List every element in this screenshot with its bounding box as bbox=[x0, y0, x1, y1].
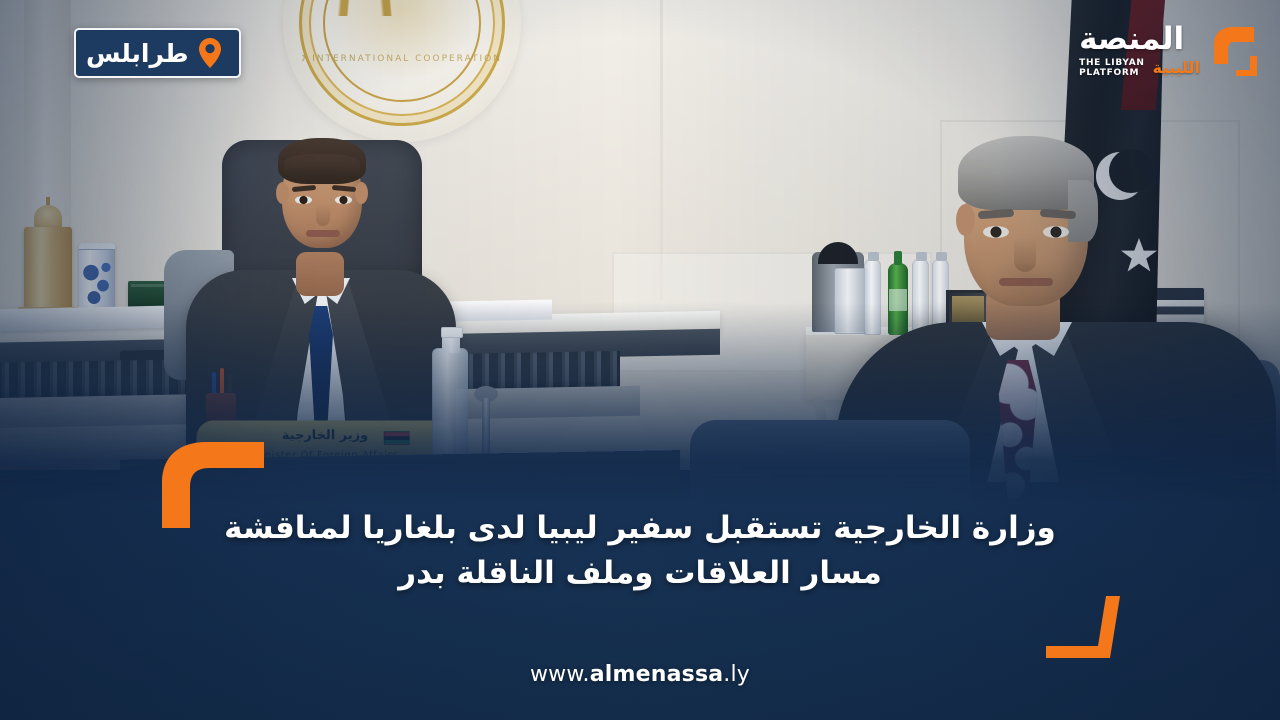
brand-name-arabic-sub: الليبية bbox=[1153, 60, 1200, 76]
location-badge[interactable]: طرابلس bbox=[74, 28, 241, 78]
url-name: almenassa bbox=[590, 662, 724, 687]
headline-line-1: وزارة الخارجية تستقبل سفير ليبيا لدى بلغ… bbox=[170, 506, 1110, 551]
headline: وزارة الخارجية تستقبل سفير ليبيا لدى بلغ… bbox=[170, 506, 1110, 597]
orange-corner-accent-icon bbox=[1046, 596, 1130, 658]
url-prefix: www. bbox=[530, 662, 590, 687]
location-label: طرابلس bbox=[86, 41, 189, 66]
brand-logo[interactable]: المنصة الليبية THE LIBYAN PLATFORM bbox=[1079, 20, 1268, 82]
brand-wordmark: المنصة الليبية THE LIBYAN PLATFORM bbox=[1079, 24, 1200, 79]
brand-name-english: THE LIBYAN PLATFORM bbox=[1079, 58, 1145, 79]
orange-hook-logo-icon bbox=[1206, 20, 1268, 82]
url-tld: .ly bbox=[723, 662, 750, 687]
brand-name-arabic: المنصة bbox=[1079, 24, 1184, 55]
news-card: FOREIGN AFFAIRS AND INTERNATIONAL COOPER… bbox=[0, 0, 1280, 720]
footer-website-url[interactable]: www.almenassa.ly bbox=[0, 662, 1280, 687]
map-pin-icon bbox=[197, 37, 223, 69]
brand-en-line2: PLATFORM bbox=[1079, 68, 1139, 78]
headline-line-2: مسار العلاقات وملف الناقلة بدر bbox=[170, 551, 1110, 596]
brand-en-line1: THE LIBYAN bbox=[1079, 58, 1145, 68]
